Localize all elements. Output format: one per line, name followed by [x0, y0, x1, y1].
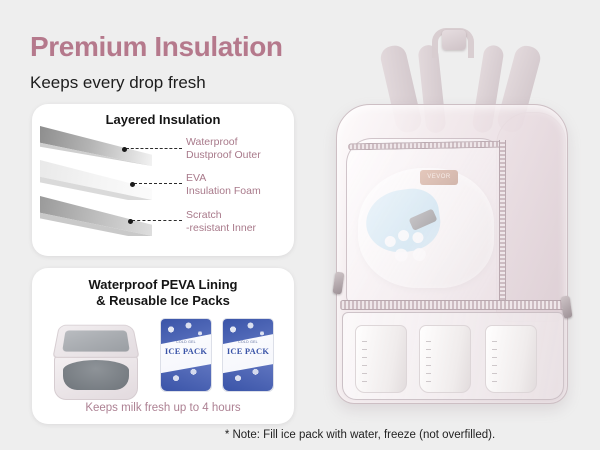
side-zipper	[499, 140, 506, 300]
cooler-bag-lid	[52, 325, 139, 358]
front-pocket-panel	[346, 138, 506, 306]
cooler-bag-image	[48, 320, 142, 402]
lining-card-footnote: Keeps milk fresh up to 4 hours	[32, 402, 294, 414]
ice-pack-2-sublabel: COLD GEL	[223, 340, 273, 344]
annotation-foam-line2: Insulation Foam	[186, 185, 261, 198]
handle-clip	[442, 30, 466, 50]
ice-pack-1-sublabel: COLD GEL	[161, 340, 211, 344]
card-title-lining: Waterproof PEVA Lining & Reusable Ice Pa…	[32, 277, 294, 310]
milk-bottle	[355, 325, 407, 393]
lower-cooler-compartment	[342, 312, 564, 400]
annotation-inner-line2: -resistant Inner	[186, 222, 256, 235]
annotation-foam: EVA Insulation Foam	[186, 172, 261, 199]
card-title-lining-line2: & Reusable Ice Packs	[32, 293, 294, 309]
page-title: Premium Insulation	[30, 33, 283, 61]
annotation-outer-line2: Dustproof Outer	[186, 149, 261, 162]
insulation-layer-inner	[40, 196, 152, 236]
cooler-bag-interior	[63, 360, 129, 390]
main-compartment-zipper	[340, 300, 566, 310]
leader-line-outer	[126, 148, 182, 149]
backpack-illustration: VEVOR	[300, 0, 600, 424]
leader-line-inner	[132, 220, 182, 221]
ice-pack-2-label: ICE PACK	[223, 346, 273, 356]
card-layered-insulation: Layered Insulation Waterproof Dustproof …	[32, 104, 294, 256]
card-peva-lining: Waterproof PEVA Lining & Reusable Ice Pa…	[32, 268, 294, 424]
annotation-outer: Waterproof Dustproof Outer	[186, 136, 261, 163]
ice-pack-2: COLD GEL ICE PACK	[222, 318, 274, 392]
milk-bottle	[485, 325, 537, 393]
leader-line-foam	[134, 183, 182, 184]
ice-pack-1: COLD GEL ICE PACK	[160, 318, 212, 392]
product-photo: VEVOR	[300, 0, 600, 424]
page-subtitle: Keeps every drop fresh	[30, 74, 206, 91]
page-note: * Note: Fill ice pack with water, freeze…	[0, 429, 600, 441]
annotation-inner: Scratch -resistant Inner	[186, 209, 256, 236]
ice-pack-1-label: ICE PACK	[161, 346, 211, 356]
cooler-bag-body	[54, 354, 138, 400]
annotation-inner-line1: Scratch	[186, 209, 256, 222]
milk-bottle	[419, 325, 471, 393]
insulation-layer-foam	[40, 160, 152, 200]
annotation-outer-line1: Waterproof	[186, 136, 261, 149]
annotation-foam-line1: EVA	[186, 172, 261, 185]
card-title-lining-line1: Waterproof PEVA Lining	[32, 277, 294, 293]
